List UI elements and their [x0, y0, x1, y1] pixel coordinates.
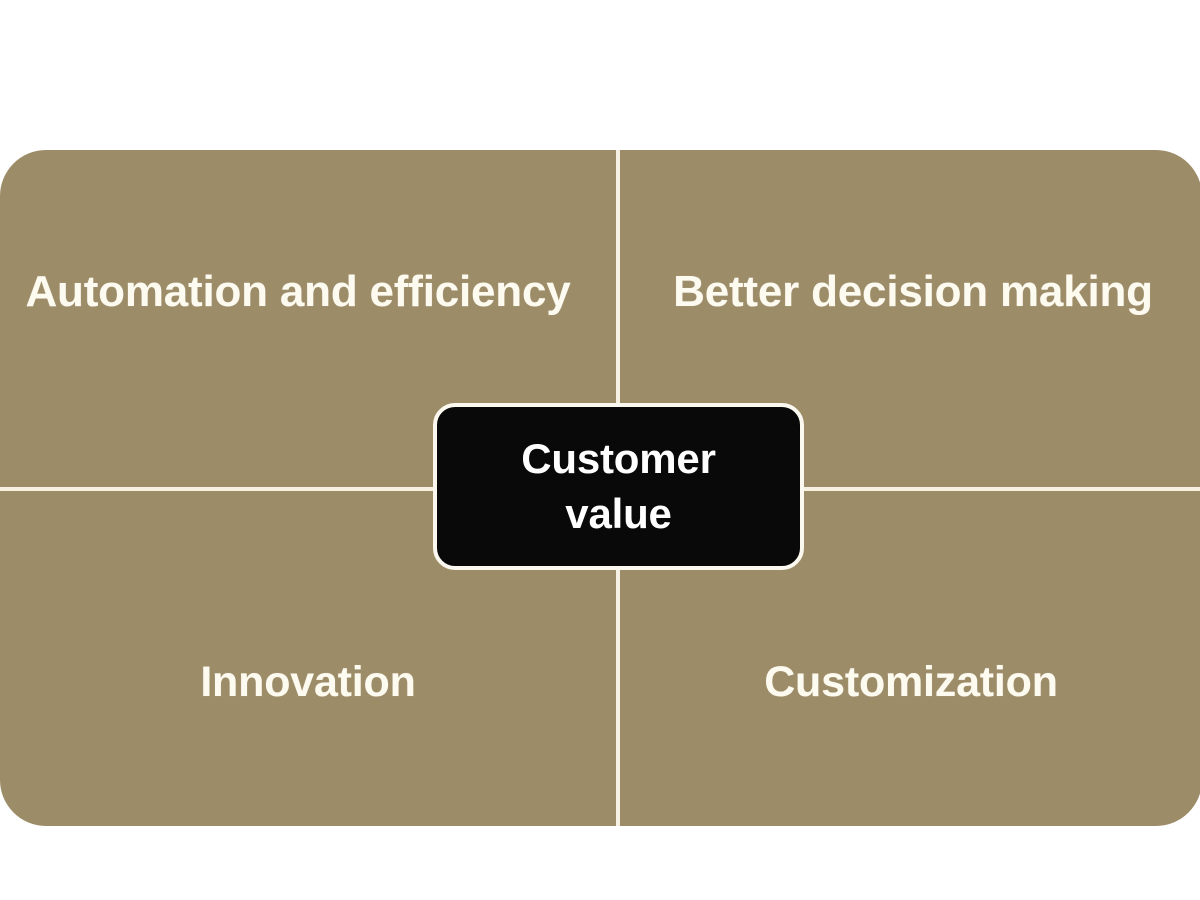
center-hub-line-2: value — [521, 487, 715, 542]
center-hub-text: Customer value — [521, 432, 715, 541]
quadrant-bottom-right-label: Customization — [764, 658, 1058, 706]
quadrant-top-right-label: Better decision making — [669, 267, 1153, 316]
quadrant-bottom-left-label: Innovation — [200, 658, 415, 706]
center-hub-line-1: Customer — [521, 432, 715, 487]
quadrant-top-left-label: Automation and efficiency — [25, 267, 590, 316]
diagram-canvas: Automation and efficiency Better decisio… — [0, 0, 1200, 900]
center-hub-box[interactable]: Customer value — [433, 403, 804, 570]
